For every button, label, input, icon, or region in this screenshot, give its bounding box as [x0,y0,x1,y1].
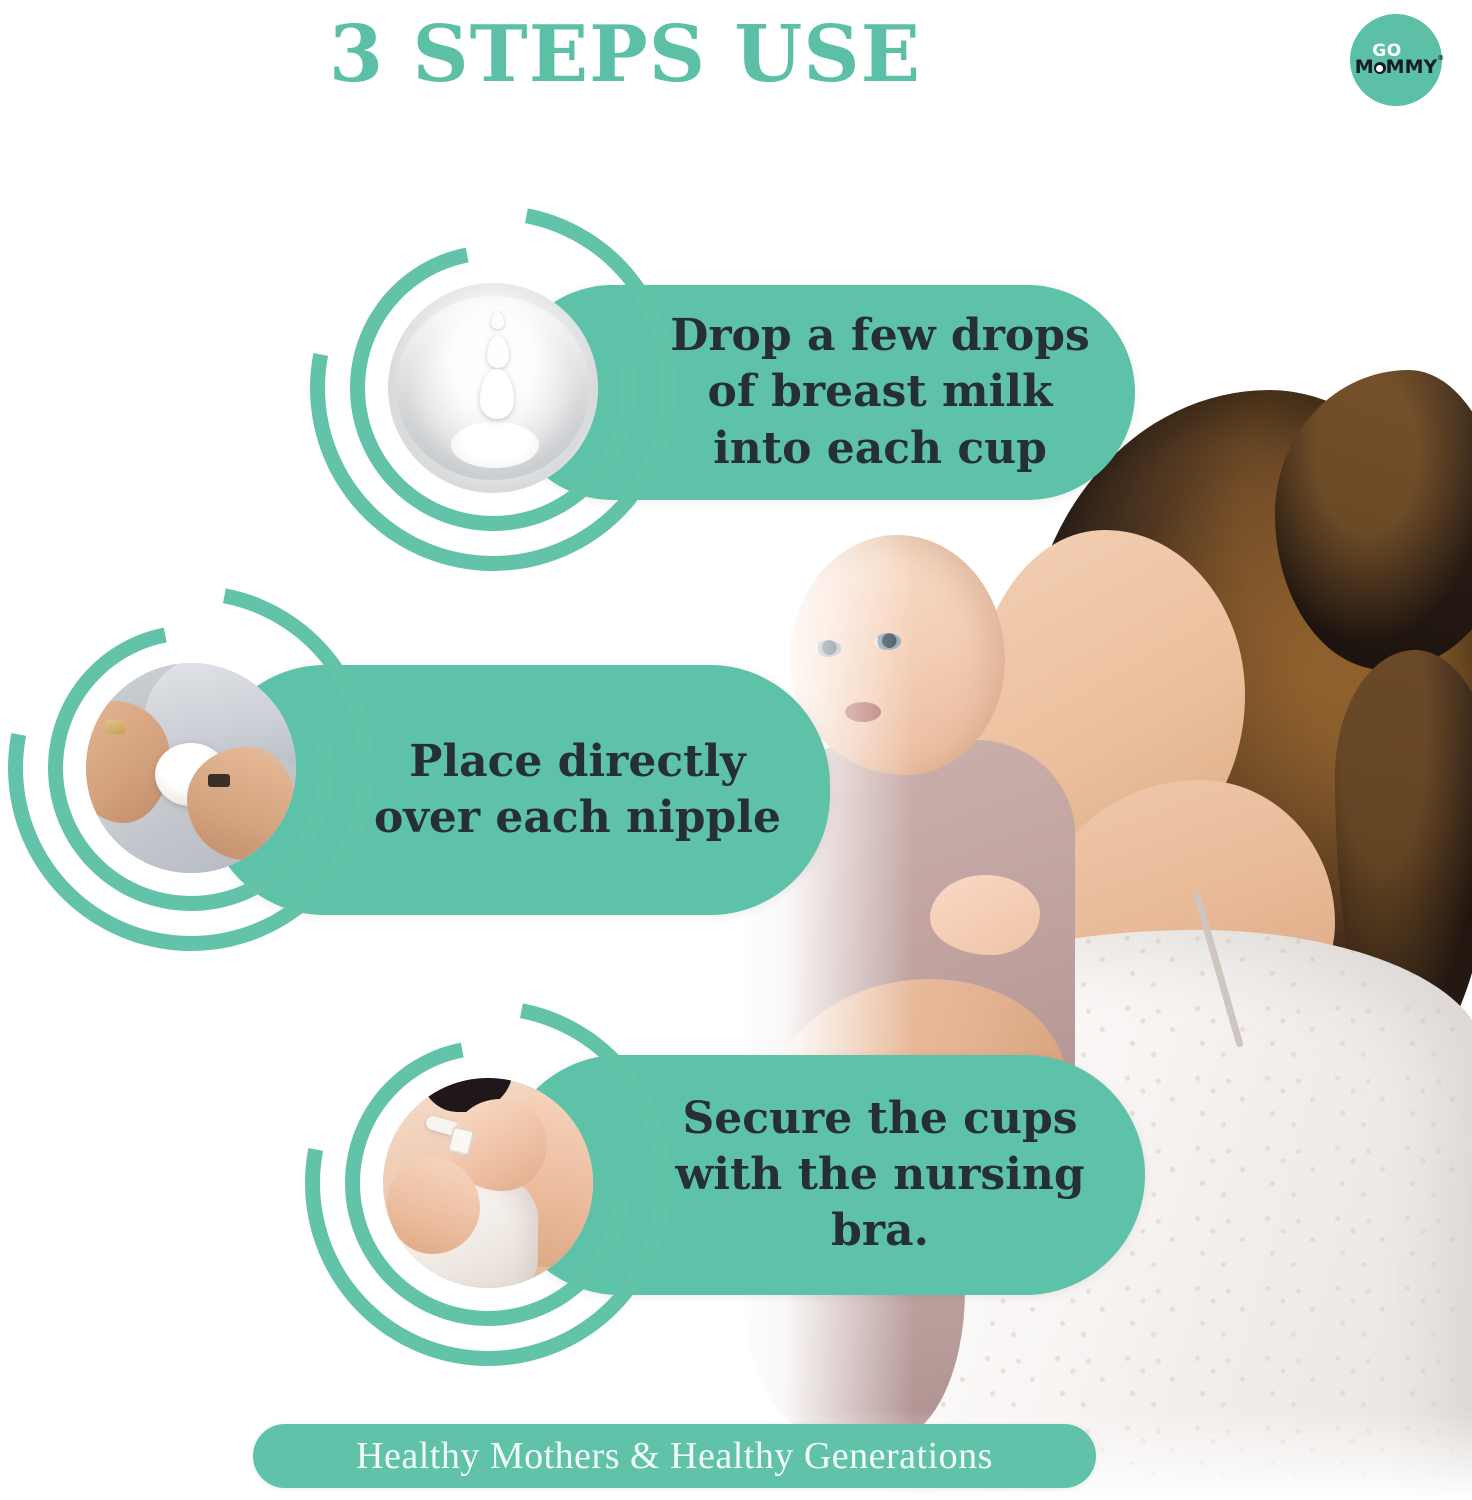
logo-o-dot-icon [1374,62,1386,74]
dark-ring [208,774,230,787]
footer-tagline-text: Healthy Mothers & Healthy Generations [356,1434,993,1478]
logo-mommy-suffix: MMY [1386,56,1438,78]
logo-mommy-text: MMMY® [1355,58,1438,77]
milk-pool [451,422,539,468]
step-1-circle-group [310,205,676,571]
step-2-photo [86,663,296,873]
step-1-text: Drop a few drops of breast milk into eac… [665,308,1095,477]
hands-placing-cup-illustration [86,663,296,873]
step-1-photo [388,283,598,493]
lower-hand [387,1158,479,1255]
step-3-photo [383,1078,593,1288]
logo-mommy-prefix: M [1355,56,1374,78]
step-3-circle-group [305,1000,671,1366]
baby-hand [930,875,1040,955]
milk-drop-small-icon [491,312,504,329]
hero-photo-mother-and-baby [735,350,1472,1500]
nursing-bra-illustration [383,1078,593,1288]
footer-tagline-banner: Healthy Mothers & Healthy Generations [253,1424,1096,1488]
page-title: 3 STEPS USE [0,14,1250,96]
logo-trademark: ® [1437,55,1444,62]
milk-drop-medium-icon [487,336,509,368]
step-2-circle-group [8,585,374,951]
step-3-text: Secure the cups with the nursing bra. [655,1091,1105,1260]
photo-left-fade [735,350,915,1500]
milk-cup-illustration [388,283,598,493]
gold-ring [105,720,125,734]
brand-logo: GO MMMY® [1350,14,1442,106]
step-2-text: Place directly over each nipple [365,734,790,847]
